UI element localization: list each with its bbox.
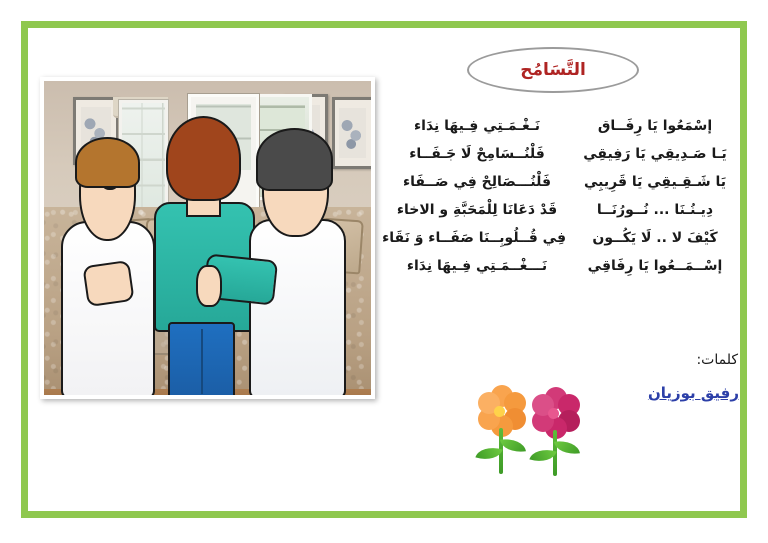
- poem-hemistich-left: فَلْنُــسَامِحْ لَا جَـفَــاء: [388, 146, 566, 162]
- boy-center-jeans: [168, 322, 235, 395]
- flower-center: [494, 406, 505, 417]
- flower-decoration-group: [474, 386, 589, 474]
- slide-canvas: التَّسَامُح إسْمَعُوا يَا رِفَــاق نَـغْ…: [0, 0, 768, 543]
- illustration-scene: [44, 81, 371, 395]
- character-boy-left: [57, 131, 155, 395]
- leaf-icon: [554, 438, 580, 456]
- credits-label: كلمات:: [696, 352, 738, 368]
- poem-hemistich-right: إسْمَعُوا يَا رِفَــاق: [566, 118, 744, 134]
- poem-hemistich-right: دِيـنُـنَا ... نُــورُنَــا: [566, 202, 744, 218]
- poem-hemistich-left: فَلْنُـــصَالِحْ فِي صَــفَاء: [388, 174, 566, 190]
- author-link[interactable]: رفيق بوزيان: [648, 384, 739, 402]
- flower-orange-icon: [474, 386, 530, 474]
- poem-body: إسْمَعُوا يَا رِفَــاق نَـغْـمَـتِي فِـي…: [388, 112, 744, 280]
- boy-left-thobe: [61, 221, 155, 395]
- poem-line: إسْمَعُوا يَا رِفَــاق نَـغْـمَـتِي فِـي…: [388, 112, 744, 140]
- boy-right-thobe: [249, 219, 346, 395]
- flower-pink-icon: [528, 388, 584, 476]
- poem-hemistich-left: نَـــغْــمَـتِي فِـيهَا نِدَاء: [388, 258, 566, 274]
- boy-center-hair: [166, 116, 241, 201]
- poem-hemistich-left: فِي قُــلُوبِــنَا صَفَــاء وَ نَقَاء: [388, 230, 566, 246]
- boy-right-hair: [256, 128, 333, 191]
- page-title: التَّسَامُح: [520, 62, 586, 79]
- title-ellipse: التَّسَامُح: [467, 47, 639, 93]
- poem-line: إسْــمَــعُوا يَا رِفَاقِي نَـــغْــمَـت…: [388, 252, 744, 280]
- illustration-image[interactable]: [40, 77, 375, 399]
- leaf-icon: [500, 436, 526, 454]
- poem-hemistich-right: إسْــمَــعُوا يَا رِفَاقِي: [566, 258, 744, 274]
- poem-hemistich-right: كَيْفَ لا .. لَا يَكُــون: [566, 230, 744, 246]
- boy-left-arm: [82, 260, 134, 307]
- character-boy-right: [240, 125, 351, 395]
- flower-center: [548, 408, 559, 419]
- boy-right-hand: [196, 265, 222, 307]
- poem-hemistich-right: يَا شَـقِـيقِي يَا قَرِيبِي: [566, 174, 744, 190]
- poem-hemistich-left: نَـغْـمَـتِي فِـيهَا نِدَاء: [388, 118, 566, 134]
- poem-line: كَيْفَ لا .. لَا يَكُــون فِي قُــلُوبِـ…: [388, 224, 744, 252]
- poem-line: دِيـنُـنَا ... نُــورُنَــا قَدْ دَعَانَ…: [388, 196, 744, 224]
- poem-hemistich-left: قَدْ دَعَانَا لِلْمَحَبَّةِ و الاخاء: [388, 202, 566, 218]
- poem-line: يَـا صَـدِيقِي يَا رَفِيقِي فَلْنُــسَام…: [388, 140, 744, 168]
- character-boy-center: [152, 116, 253, 395]
- poem-hemistich-right: يَـا صَـدِيقِي يَا رَفِيقِي: [566, 146, 744, 162]
- poem-line: يَا شَـقِـيقِي يَا قَرِيبِي فَلْنُـــصَا…: [388, 168, 744, 196]
- boy-left-hair: [75, 137, 140, 188]
